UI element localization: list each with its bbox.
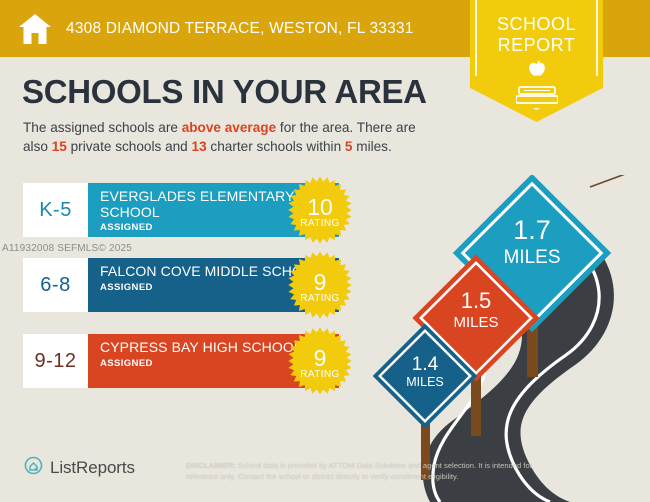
- rating-value: 9: [314, 271, 327, 294]
- rating-label: RATING: [300, 369, 339, 380]
- sign-distance-value: 1.5: [461, 288, 492, 313]
- summary-highlight-private-count: 15: [52, 139, 67, 154]
- badge-title: SCHOOL REPORT: [470, 14, 603, 56]
- school-rating-badge: 9 RATING: [285, 250, 355, 320]
- badge-title-line2: REPORT: [470, 35, 603, 56]
- disclaimer-body: School data is provided by ATTOM Data So…: [186, 461, 532, 481]
- summary-part-5: miles.: [352, 139, 391, 154]
- summary-highlight-rating: above average: [182, 120, 276, 135]
- school-rating-badge: 10 RATING: [285, 175, 355, 245]
- school-grade-range: 9-12: [23, 334, 88, 388]
- rating-value: 10: [307, 196, 333, 219]
- summary-part-4: charter schools within: [207, 139, 345, 154]
- rating-label: RATING: [300, 218, 339, 229]
- apple-icon: [526, 60, 548, 85]
- sign-distance-unit: MILES: [503, 247, 560, 268]
- disclaimer-label: DISCLAIMER:: [186, 461, 236, 470]
- school-grade-range: K-5: [23, 183, 88, 237]
- distance-signs-illustration: 1.7 MILES 1.5 MILES 1.4: [370, 175, 650, 502]
- school-report-infographic: 4308 DIAMOND TERRACE, WESTON, FL 33331 S…: [0, 0, 650, 502]
- home-icon: [18, 13, 52, 45]
- wire-line: [590, 175, 628, 187]
- disclaimer-text: DISCLAIMER: School data is provided by A…: [186, 461, 566, 482]
- header-bar: 4308 DIAMOND TERRACE, WESTON, FL 33331: [0, 0, 450, 57]
- rating-label: RATING: [300, 293, 339, 304]
- school-grade-range: 6-8: [23, 258, 88, 312]
- school-rating-badge: 9 RATING: [285, 326, 355, 396]
- mls-watermark: A11932008 SEFMLS© 2025: [2, 243, 132, 254]
- sign-distance-value: 1.7: [513, 215, 551, 245]
- summary-text: The assigned schools are above average f…: [23, 118, 443, 156]
- sign-distance-unit: MILES: [406, 375, 444, 389]
- summary-highlight-charter-count: 13: [192, 139, 207, 154]
- listreports-logo-text: ListReports: [50, 458, 135, 478]
- listreports-logo[interactable]: ListReports: [24, 456, 135, 480]
- summary-part-1: The assigned schools are: [23, 120, 182, 135]
- page-title: SCHOOLS IN YOUR AREA: [22, 73, 427, 111]
- school-report-badge: SCHOOL REPORT: [470, 0, 603, 122]
- books-icon: [516, 85, 558, 110]
- sign-distance-value: 1.4: [412, 354, 439, 375]
- property-address: 4308 DIAMOND TERRACE, WESTON, FL 33331: [66, 20, 414, 38]
- badge-icons: [470, 60, 603, 110]
- listreports-house-icon: [24, 456, 43, 480]
- badge-title-line1: SCHOOL: [470, 14, 603, 35]
- sign-distance-unit: MILES: [453, 314, 498, 331]
- rating-value: 9: [314, 347, 327, 370]
- summary-part-3: private schools and: [67, 139, 192, 154]
